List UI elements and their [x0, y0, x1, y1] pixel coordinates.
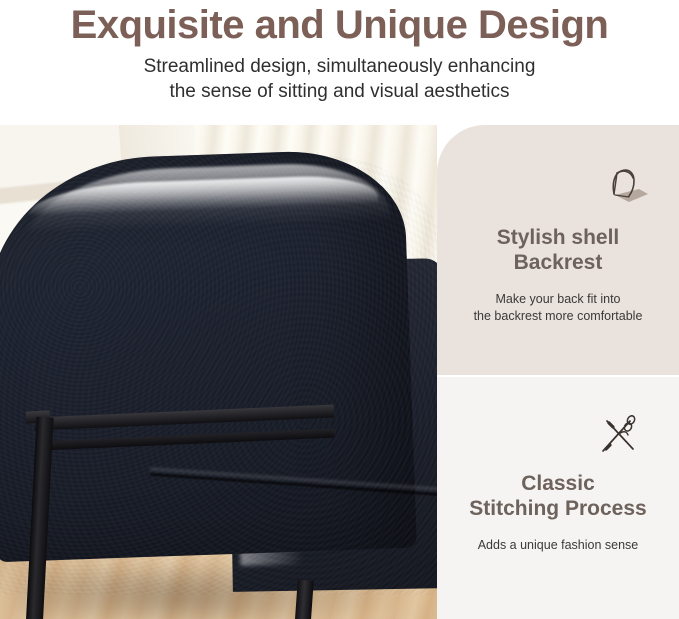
feature-card-stitching: Classic Stitching Process Adds a unique …: [437, 377, 679, 619]
chair-backrest-icon: [451, 159, 665, 215]
feature-card-title: Stylish shell Backrest: [497, 225, 620, 275]
needle-thread-icon: [451, 407, 665, 463]
feature-card-backrest: Stylish shell Backrest Make your back fi…: [437, 125, 679, 375]
content-area: Stylish shell Backrest Make your back fi…: [0, 125, 679, 619]
product-photo: [0, 125, 437, 619]
feature-card-description: Adds a unique fashion sense: [478, 537, 639, 554]
header: Exquisite and Unique Design Streamlined …: [0, 0, 679, 125]
feature-card-title: Classic Stitching Process: [469, 471, 646, 521]
feature-cards: Stylish shell Backrest Make your back fi…: [437, 125, 679, 619]
feature-card-description: Make your back fit into the backrest mor…: [474, 291, 643, 325]
page-subtitle: Streamlined design, simultaneously enhan…: [144, 54, 536, 104]
page-title: Exquisite and Unique Design: [71, 2, 609, 48]
